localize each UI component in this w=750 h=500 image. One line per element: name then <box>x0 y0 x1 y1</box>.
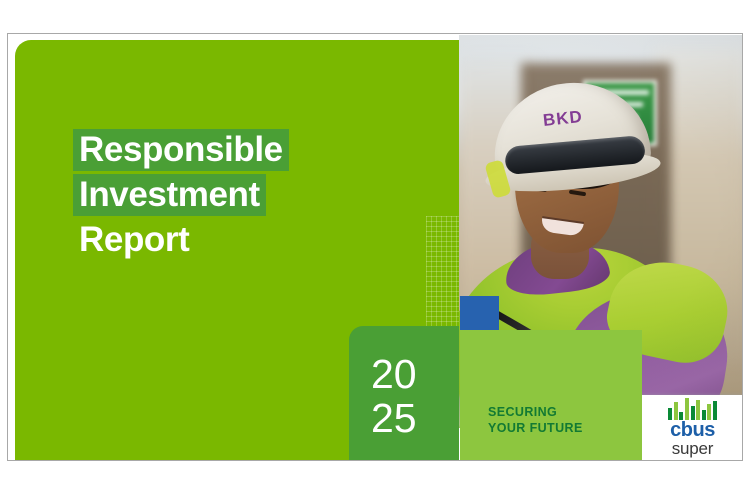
tagline: SECURING YOUR FUTURE <box>488 404 583 436</box>
year-text: 20 25 <box>371 352 417 440</box>
tagline-line-1: SECURING <box>488 404 583 420</box>
logo-brand-text: cbus <box>670 421 715 440</box>
title-line-1: Responsible <box>73 129 289 171</box>
cbus-super-logo: cbus super <box>642 395 743 461</box>
year-top: 20 <box>371 352 417 396</box>
hard-hat-logo-text: BKD <box>542 107 584 131</box>
document-page: BKD Responsible Investment Report 20 25 <box>7 33 743 461</box>
title-line-2: Investment <box>73 174 266 216</box>
logo-bar <box>685 398 689 420</box>
page-title: Responsible Investment Report <box>73 129 403 264</box>
logo-bar <box>713 401 717 420</box>
year-bottom: 25 <box>371 396 417 440</box>
logo-bar <box>674 402 678 420</box>
logo-bar <box>691 406 695 420</box>
title-line-3: Report <box>73 219 195 261</box>
screenshot-canvas: BKD Responsible Investment Report 20 25 <box>0 0 750 500</box>
blue-accent-square <box>460 296 499 331</box>
tagline-line-2: YOUR FUTURE <box>488 420 583 436</box>
logo-bar <box>707 404 711 420</box>
logo-bar <box>696 400 700 420</box>
logo-bar-chart-icon <box>668 398 717 420</box>
tagline-panel: SECURING YOUR FUTURE <box>460 330 642 461</box>
year-panel: 20 25 <box>349 326 459 461</box>
logo-sub-text: super <box>672 440 714 458</box>
